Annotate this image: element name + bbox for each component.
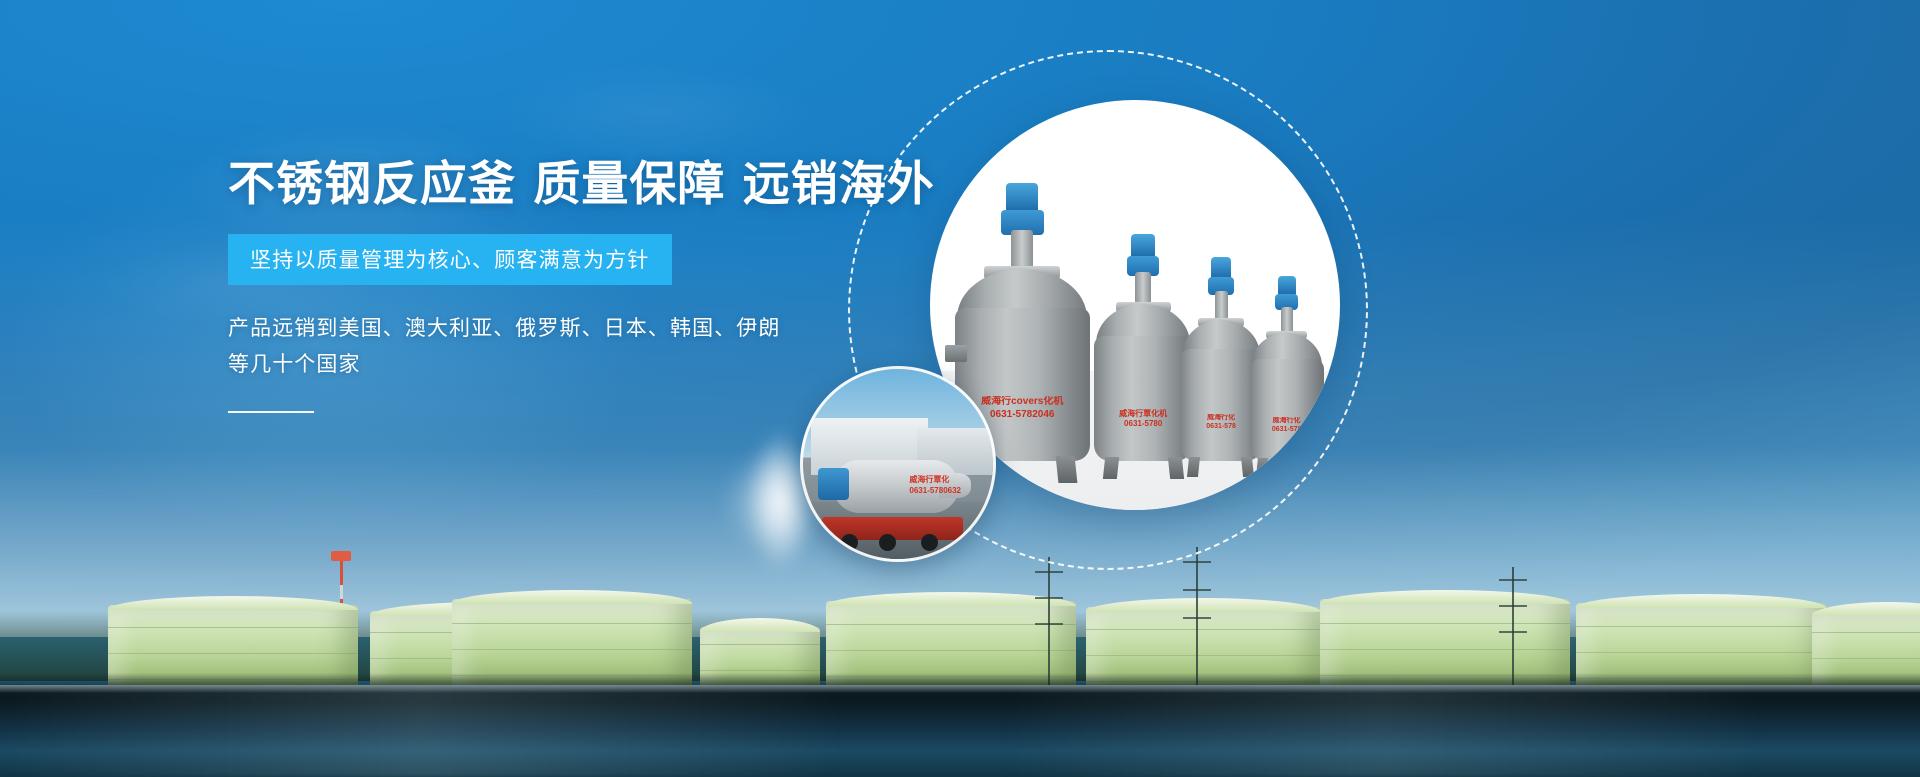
motor-icon	[1131, 234, 1155, 258]
vessel-label-line2: 0631-578	[1256, 426, 1318, 435]
shaft-icon	[1281, 307, 1293, 333]
description-line-1: 产品远销到美国、澳大利亚、俄罗斯、日本、韩国、伊朗	[228, 311, 888, 347]
vessel-label-line2: 0631-578	[1187, 423, 1256, 432]
factory-photo-circle: 威海行覃化 0631-5780632	[800, 366, 996, 562]
power-pylon	[1512, 567, 1514, 687]
nozzle-icon	[945, 345, 967, 362]
storage-tank-field	[0, 541, 1920, 691]
shaft-icon	[1135, 272, 1151, 304]
description-paragraph: 产品远销到美国、澳大利亚、俄罗斯、日本、韩国、伊朗 等几十个国家	[228, 311, 888, 383]
reactor-vessel: 威海行化 0631-578	[1250, 297, 1324, 461]
hero-copy: 不锈钢反应釜 质量保障 远销海外 坚持以质量管理为核心、顾客满意为方针 产品远销…	[228, 160, 888, 413]
vessel-leg	[1056, 456, 1078, 483]
vessel-label: 威海行覃化机 0631-5780	[1102, 409, 1185, 429]
motor-icon	[1278, 276, 1296, 296]
vessel-body	[1094, 336, 1192, 461]
power-pylon	[1048, 557, 1050, 687]
inset-label-line2: 0631-5780632	[909, 486, 961, 496]
vessel-label-line1: 威海行化	[1187, 414, 1256, 423]
water-reflection	[0, 685, 1920, 777]
vessel-label-line1: 威海行化	[1256, 417, 1318, 426]
motor-icon	[818, 468, 848, 500]
vessel-leg	[1256, 458, 1268, 476]
description-line-2: 等几十个国家	[228, 347, 888, 383]
page-title: 不锈钢反应釜 质量保障 远销海外	[228, 160, 888, 210]
hero-banner: 不锈钢反应釜 质量保障 远销海外 坚持以质量管理为核心、顾客满意为方针 产品远销…	[0, 0, 1920, 777]
vessel-label-line1: 威海行覃化机	[1102, 409, 1185, 419]
vessel-leg	[1305, 458, 1317, 476]
shaft-icon	[1215, 291, 1228, 320]
vessel-leg	[1103, 457, 1119, 479]
vessel-label-line2: 0631-5780	[1102, 419, 1185, 429]
shaft-icon	[1011, 230, 1033, 269]
inset-label-line1: 威海行覃化	[909, 475, 961, 485]
motor-icon	[1211, 257, 1231, 279]
vessel-label: 威海行化 0631-578	[1187, 414, 1256, 432]
tagline-badge: 坚持以质量管理为核心、顾客满意为方针	[228, 234, 672, 285]
reactor-vessel: 威海行覃化机 0631-5780	[1094, 260, 1192, 461]
vessel-body	[1250, 359, 1324, 461]
motor-icon	[1006, 183, 1038, 213]
vessel-label: 威海行化 0631-578	[1256, 417, 1318, 435]
power-pylon	[1196, 547, 1198, 687]
inset-label: 威海行覃化 0631-5780632	[909, 475, 961, 496]
divider-line	[228, 411, 314, 413]
